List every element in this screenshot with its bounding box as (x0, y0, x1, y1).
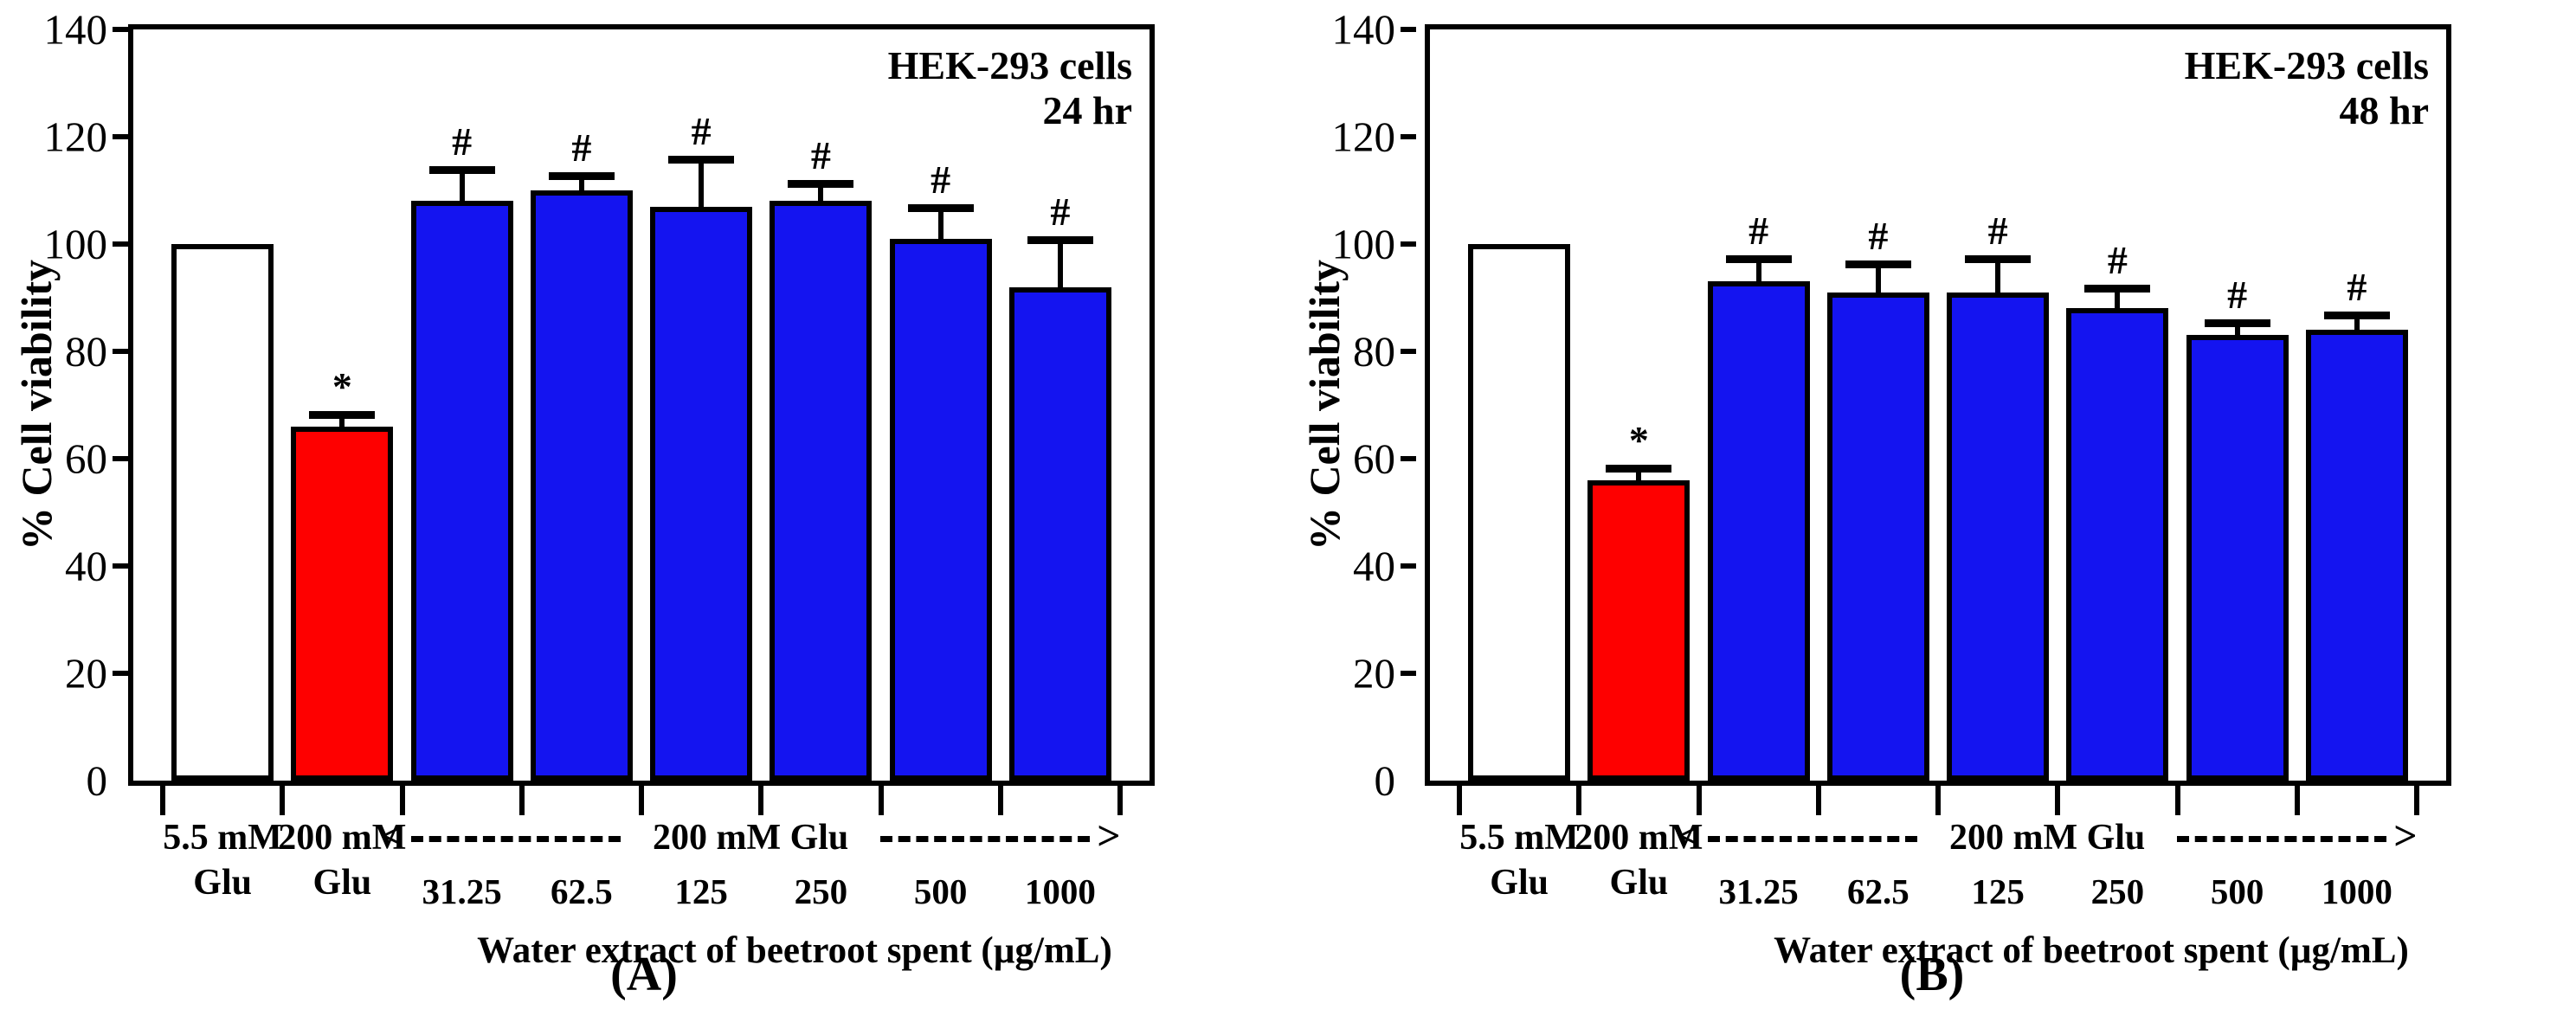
bar-slot: # (2065, 29, 2169, 781)
y-axis-tick-label: 80 (1353, 327, 1395, 376)
bar[interactable] (1009, 287, 1111, 781)
bar-group: *###### (1430, 29, 2446, 781)
y-axis-tick-mark (1401, 563, 1416, 569)
error-bar (2115, 293, 2120, 309)
y-axis-tick-mark (113, 671, 128, 676)
bracket-dash-left (411, 836, 621, 842)
y-axis-tick-label: 0 (1375, 756, 1396, 806)
y-axis-tick-mark (113, 456, 128, 461)
significance-marker: # (811, 136, 831, 176)
bracket-center-label: 200 mM Glu (1949, 817, 2145, 858)
y-axis-tick-mark (113, 27, 128, 32)
bar-group: *###### (133, 29, 1150, 781)
error-bar-cap (668, 156, 734, 164)
error-bar-cap (1726, 255, 1792, 263)
concentration-label: 500 (914, 871, 968, 912)
significance-marker: # (452, 122, 472, 162)
error-bar-cap (429, 166, 495, 174)
error-bar (579, 180, 584, 190)
bar-slot (171, 29, 274, 781)
error-bar-cap (1606, 465, 1671, 473)
concentration-label: 125 (674, 871, 728, 912)
bar[interactable] (770, 201, 872, 781)
control-label-line1: 5.5 mM (163, 817, 282, 858)
error-bar-cap (1965, 255, 2031, 263)
bar-slot: # (1008, 29, 1112, 781)
significance-marker: # (2108, 241, 2128, 280)
bar[interactable] (1827, 293, 1929, 781)
error-bar-cap (788, 180, 853, 188)
control-label-line2: Glu (193, 862, 252, 903)
x-axis-tick-mark (998, 786, 1003, 815)
x-axis-tick-mark (1816, 786, 1821, 815)
x-axis-tick-mark (2175, 786, 2180, 815)
bar[interactable] (650, 207, 752, 781)
x-axis-tick-mark (280, 786, 285, 815)
x-axis-ticks (128, 786, 1155, 815)
significance-marker: # (1868, 216, 1888, 256)
error-bar (699, 164, 704, 207)
significance-marker: # (1748, 211, 1768, 251)
y-axis-tick-label: 80 (65, 327, 107, 376)
error-bar (818, 188, 823, 202)
error-bar (2235, 327, 2240, 335)
error-bar-cap (908, 204, 974, 212)
y-axis-tick-label: 140 (1332, 5, 1396, 55)
x-axis-tick-mark (1576, 786, 1581, 815)
x-axis-tick-mark (519, 786, 525, 815)
bar-slot: # (1826, 29, 1930, 781)
y-axis-tick-mark (113, 241, 128, 247)
significance-marker: # (692, 112, 712, 151)
bar[interactable] (890, 239, 992, 781)
bar-slot: # (1946, 29, 2050, 781)
significance-marker: * (1629, 421, 1649, 460)
concentration-label: 62.5 (1847, 871, 1909, 912)
glucose-label-line2: Glu (313, 862, 372, 903)
y-axis-tick-label: 120 (1332, 113, 1396, 162)
y-axis-title: % Cell viability (1299, 260, 1349, 550)
x-axis-tick-mark (2295, 786, 2300, 815)
x-axis-tick-mark (1457, 786, 1462, 815)
control-label-line1: 5.5 mM (1459, 817, 1579, 858)
bracket-right-arrow: > (1097, 813, 1120, 860)
bracket-dash-right (880, 836, 1090, 842)
significance-marker: # (2347, 267, 2367, 307)
bar[interactable] (291, 427, 393, 781)
error-bar (339, 419, 345, 427)
x-axis-tick-mark (639, 786, 644, 815)
y-axis-tick-label: 0 (87, 756, 108, 806)
y-axis-tick-label: 60 (1353, 434, 1395, 484)
concentration-label: 62.5 (551, 871, 613, 912)
y-axis-tick-label: 140 (44, 5, 108, 55)
error-bar-cap (1845, 260, 1911, 268)
y-axis-tick-label: 60 (65, 434, 107, 484)
bar[interactable] (2186, 335, 2289, 781)
y-axis-tick-mark (113, 349, 128, 354)
bracket-right-arrow: > (2393, 813, 2417, 860)
y-axis-tick-label: 20 (1353, 649, 1395, 698)
error-bar (460, 174, 465, 201)
bracket-left-arrow: < (1678, 813, 1701, 860)
x-axis-ticks (1425, 786, 2451, 815)
significance-marker: # (2227, 275, 2247, 315)
error-bar (1058, 244, 1063, 287)
significance-marker: * (332, 367, 352, 407)
bar-slot: # (530, 29, 634, 781)
error-bar-cap (309, 411, 375, 419)
y-axis-tick-mark (113, 563, 128, 569)
x-axis-tick-mark (758, 786, 763, 815)
y-axis-tick-mark (1401, 241, 1416, 247)
x-axis-tick-mark (1935, 786, 1941, 815)
y-axis-tick-label: 20 (65, 649, 107, 698)
significance-marker: # (571, 128, 591, 168)
bar-slot: # (410, 29, 514, 781)
concentration-label: 250 (795, 871, 848, 912)
significance-marker: # (1988, 211, 2008, 251)
bar[interactable] (531, 190, 633, 781)
error-bar-cap (2324, 312, 2390, 319)
concentration-label: 31.25 (1719, 871, 1799, 912)
plot-area: HEK-293 cells48 hr*###### (1425, 24, 2451, 786)
y-axis-tick-label: 120 (44, 113, 108, 162)
panel-b: 020406080100120140% Cell viabilityHEK-29… (1288, 0, 2576, 1016)
concentration-label: 1000 (2322, 871, 2392, 912)
error-bar-cap (549, 172, 615, 180)
x-axis-tick-mark (2055, 786, 2060, 815)
bracket-dash-left (1708, 836, 1917, 842)
x-axis-tick-mark (400, 786, 405, 815)
bar-slot: * (290, 29, 394, 781)
error-bar (1756, 263, 1761, 282)
error-bar-cap (2205, 319, 2270, 327)
x-axis-tick-mark (160, 786, 165, 815)
concentration-label: 31.25 (422, 871, 502, 912)
bracket-dash-right (2177, 836, 2386, 842)
bar-slot (1467, 29, 1571, 781)
y-axis-tick-mark (1401, 349, 1416, 354)
bar-slot: # (2305, 29, 2409, 781)
x-axis-tick-mark (2414, 786, 2419, 815)
error-bar (1995, 263, 2000, 293)
glucose-label-line2: Glu (1610, 862, 1669, 903)
bracket-center-label: 200 mM Glu (653, 817, 848, 858)
concentration-label: 250 (2091, 871, 2145, 912)
error-bar (938, 212, 943, 239)
x-axis-title: Water extract of beetroot spent (µg/mL) (477, 929, 1112, 972)
bar-slot: # (1707, 29, 1811, 781)
figure-container: 020406080100120140% Cell viabilityHEK-29… (0, 0, 2576, 1016)
significance-marker: # (931, 160, 950, 200)
error-bar-cap (2084, 285, 2150, 293)
y-axis-tick-mark (1401, 456, 1416, 461)
bar-slot: # (889, 29, 993, 781)
x-axis-title: Water extract of beetroot spent (µg/mL) (1774, 929, 2409, 972)
control-label-line2: Glu (1490, 862, 1549, 903)
bar[interactable] (1947, 293, 2049, 781)
bar[interactable] (411, 201, 513, 781)
error-bar (1876, 268, 1881, 293)
error-bar (1636, 473, 1641, 480)
y-axis-title: % Cell viability (11, 260, 61, 550)
panel-letter: (B) (1900, 947, 1965, 1002)
bar[interactable] (171, 244, 274, 781)
x-axis-tick-mark (1697, 786, 1702, 815)
error-bar-cap (1027, 236, 1093, 244)
concentration-label: 500 (2211, 871, 2264, 912)
panel-letter: (A) (610, 947, 678, 1002)
y-axis-tick-mark (1401, 27, 1416, 32)
bar-slot: # (2186, 29, 2289, 781)
concentration-label: 125 (1971, 871, 2025, 912)
bar-slot: # (769, 29, 873, 781)
error-bar (2354, 319, 2360, 330)
bar[interactable] (1468, 244, 1570, 781)
plot-area: HEK-293 cells24 hr*###### (128, 24, 1155, 786)
y-axis-tick-label: 40 (65, 542, 107, 591)
bar-slot: * (1587, 29, 1690, 781)
y-axis-tick-mark (113, 134, 128, 139)
x-axis-tick-mark (1117, 786, 1123, 815)
panel-a: 020406080100120140% Cell viabilityHEK-29… (0, 0, 1288, 1016)
y-axis-tick-mark (1401, 671, 1416, 676)
bar[interactable] (2306, 330, 2408, 781)
bar-slot: # (649, 29, 753, 781)
bar[interactable] (2066, 308, 2168, 781)
bar[interactable] (1708, 281, 1810, 781)
significance-marker: # (1050, 192, 1070, 232)
bar[interactable] (1587, 480, 1690, 781)
bracket-left-arrow: < (381, 813, 404, 860)
y-axis-tick-mark (1401, 134, 1416, 139)
concentration-label: 1000 (1025, 871, 1096, 912)
x-axis-tick-mark (879, 786, 884, 815)
y-axis-tick-label: 40 (1353, 542, 1395, 591)
